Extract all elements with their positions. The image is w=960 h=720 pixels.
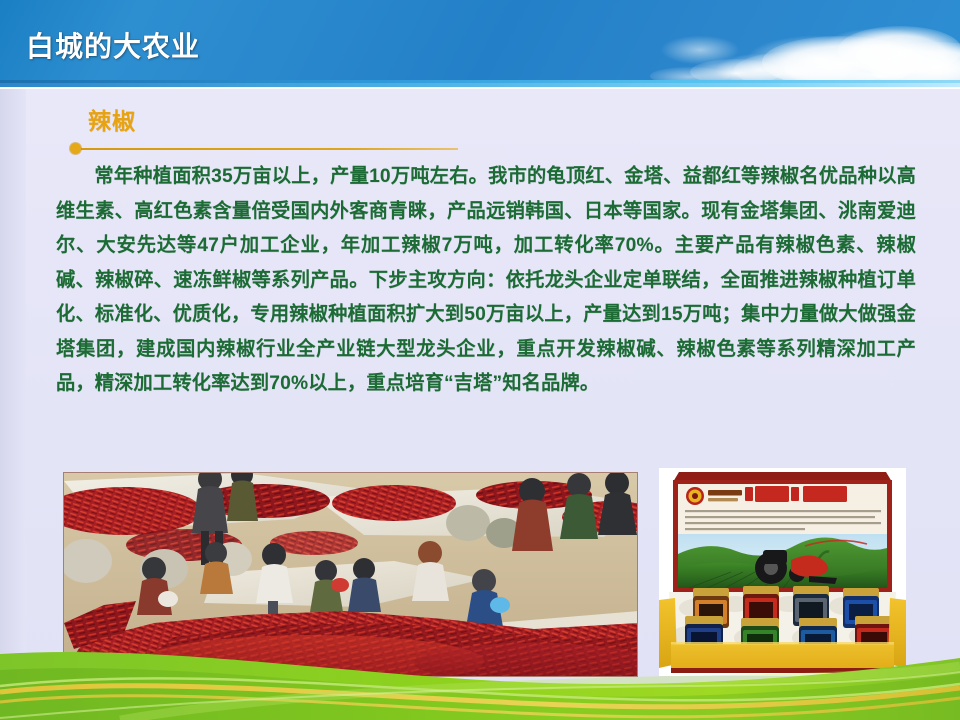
bullet-dot-icon: [70, 143, 81, 154]
section-heading: 辣椒: [88, 110, 136, 133]
cloud-decoration-icon: [540, 0, 960, 80]
chili-harvest-photo-graphic: [64, 473, 638, 677]
slide-header: 白城的大农业: [0, 0, 960, 80]
chili-harvest-photo: [63, 472, 638, 677]
chili-sauce-giftbox-photo: [659, 468, 906, 676]
page-title: 白城的大农业: [26, 33, 200, 61]
slide-canvas: 白城的大农业 辣椒 常年种植面积35万亩以上，产量10万吨左右。我市的龟顶红、金…: [0, 0, 960, 720]
section-underline: [80, 148, 458, 150]
body-paragraph: 常年种植面积35万亩以上，产量10万吨左右。我市的龟顶红、金塔、益都红等辣椒名优…: [56, 160, 916, 402]
panel-left-shade: [0, 89, 26, 720]
chili-sauce-giftbox-graphic: [659, 468, 906, 676]
